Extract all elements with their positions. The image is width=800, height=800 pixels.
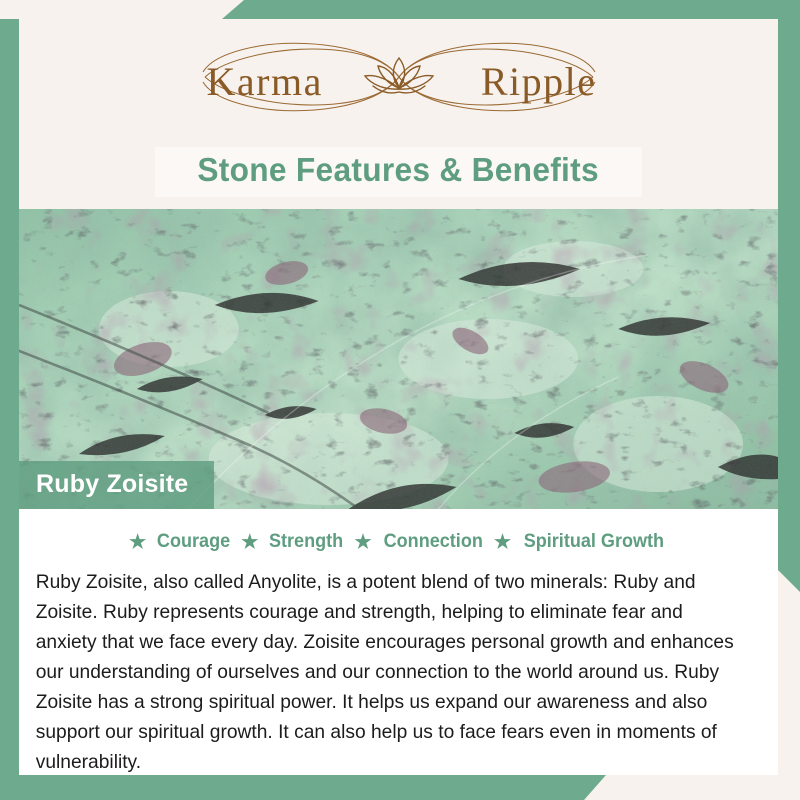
content-card: Karma Ripple Stone Features & Benefits <box>19 19 778 775</box>
description-panel: ★ Courage ★ Strength ★ Connection ★ Spir… <box>19 509 778 775</box>
stone-name-badge: Ruby Zoisite <box>19 461 214 509</box>
page-title: Stone Features & Benefits <box>198 151 600 189</box>
infographic-canvas: Karma Ripple Stone Features & Benefits <box>0 0 800 800</box>
keyword-connection: Connection <box>383 531 482 553</box>
corner-accent-bottom-left <box>0 775 606 800</box>
brand-logo-inner: Karma Ripple <box>179 36 619 118</box>
brand-logo: Karma Ripple <box>19 19 778 134</box>
description-text: Ruby Zoisite, also called Anyolite, is a… <box>19 561 767 775</box>
section-heading-plate: Stone Features & Benefits <box>155 147 641 197</box>
corner-accent-left <box>0 19 19 800</box>
keyword-strength: Strength <box>269 531 343 553</box>
star-icon: ★ <box>354 533 371 552</box>
brand-name-second: Ripple <box>481 62 597 102</box>
section-heading-area: Stone Features & Benefits <box>19 134 778 209</box>
corner-accent-right <box>778 0 800 592</box>
star-icon: ★ <box>494 533 511 552</box>
keyword-spiritual-growth: Spiritual Growth <box>524 531 664 553</box>
star-icon: ★ <box>129 533 146 552</box>
brand-name-first: Karma <box>207 62 323 102</box>
stone-photo: Ruby Zoisite <box>19 209 778 509</box>
star-icon: ★ <box>241 533 258 552</box>
keyword-list: ★ Courage ★ Strength ★ Connection ★ Spir… <box>19 509 778 561</box>
keyword-courage: Courage <box>157 531 230 553</box>
corner-accent-top-right <box>222 0 800 19</box>
